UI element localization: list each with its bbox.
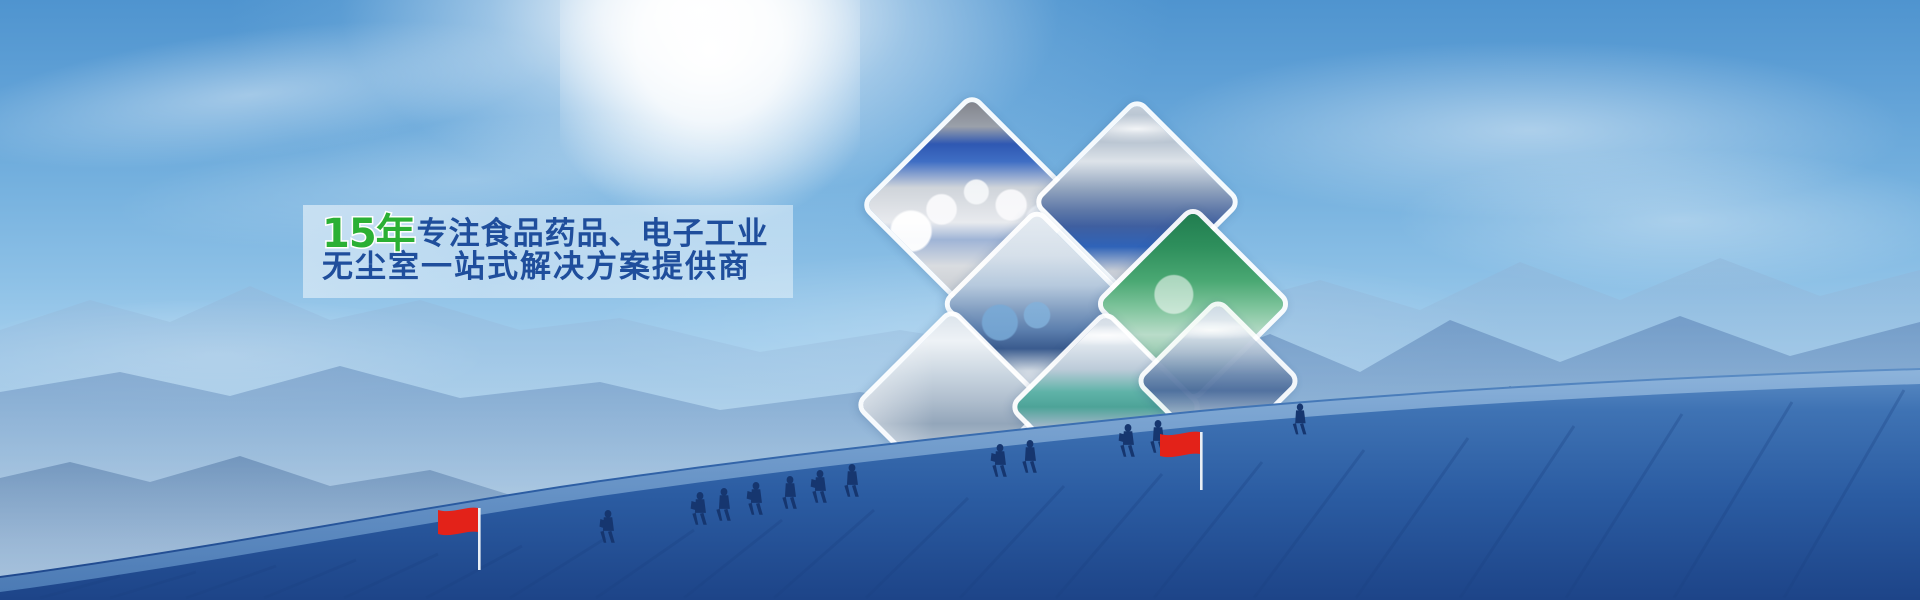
headline-line-1: 15年 专注食品药品、电子工业	[322, 212, 793, 252]
headline-line-2: 无尘室一站式解决方案提供商	[322, 252, 793, 292]
years-badge: 15年	[322, 214, 415, 254]
foreground-ridge	[0, 340, 1920, 600]
headline-text: 专注食品药品、电子工业	[417, 219, 769, 250]
snow-ridge	[0, 368, 1920, 600]
headline-panel: 15年 专注食品药品、电子工业 无尘室一站式解决方案提供商	[303, 205, 793, 298]
hero-banner: 15年 专注食品药品、电子工业 无尘室一站式解决方案提供商	[0, 0, 1920, 600]
